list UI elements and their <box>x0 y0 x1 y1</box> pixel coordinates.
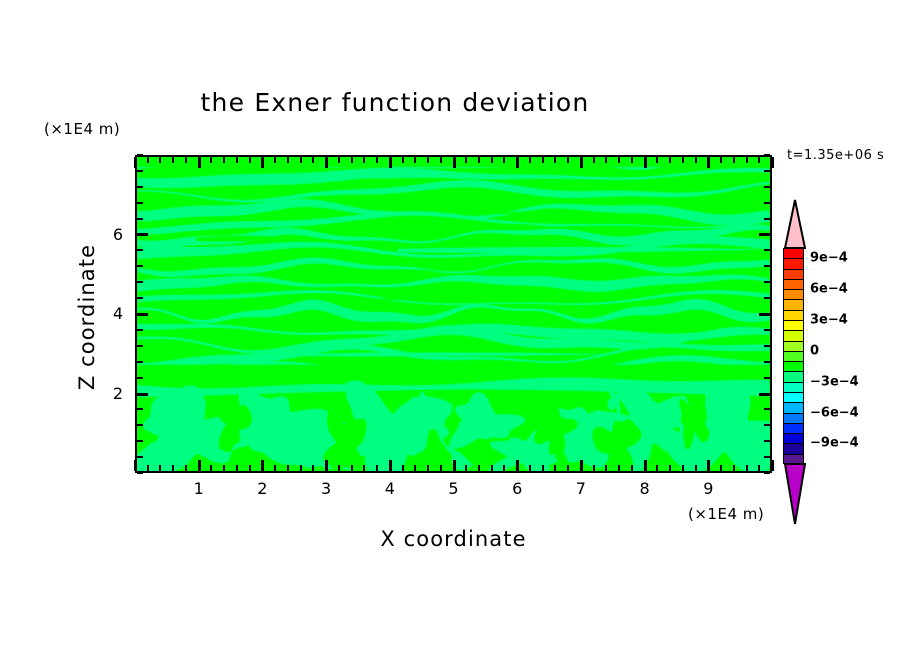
x-tick-label: 8 <box>630 479 660 498</box>
tick-mark <box>516 157 519 168</box>
tick-mark <box>764 265 770 267</box>
time-annotation: t=1.35e+06 s <box>787 148 884 163</box>
tick-mark <box>771 460 774 471</box>
tick-mark <box>720 465 722 471</box>
tick-mark <box>758 465 760 471</box>
tick-mark <box>764 154 770 156</box>
tick-mark <box>554 465 556 471</box>
tick-mark <box>137 313 148 316</box>
colorbar-tick-label: 6e−4 <box>810 282 848 297</box>
page-title: the Exner function deviation <box>0 88 790 117</box>
tick-mark <box>764 408 770 410</box>
tick-mark <box>764 472 770 474</box>
tick-mark <box>249 157 251 163</box>
tick-mark <box>300 465 302 471</box>
tick-mark <box>682 465 684 471</box>
figure-canvas: the Exner function deviation (×1E4 m) t=… <box>0 0 904 654</box>
tick-mark <box>134 460 137 471</box>
tick-mark <box>618 157 620 163</box>
colorbar-band <box>784 321 803 331</box>
colorbar-band <box>784 270 803 280</box>
tick-mark <box>223 465 225 471</box>
tick-mark <box>137 233 148 236</box>
tick-mark <box>453 157 456 168</box>
colorbar-band <box>784 300 803 310</box>
colorbar-tick-label: 0 <box>810 343 819 358</box>
colorbar-band <box>784 290 803 300</box>
tick-mark <box>185 465 187 471</box>
tick-mark <box>746 465 748 471</box>
colorbar-band <box>784 414 803 424</box>
tick-mark <box>746 157 748 163</box>
tick-mark <box>656 157 658 163</box>
tick-mark <box>764 297 770 299</box>
colorbar <box>780 198 810 526</box>
x-tick-label: 2 <box>247 479 277 498</box>
tick-mark <box>605 465 607 471</box>
tick-mark <box>759 393 770 396</box>
tick-mark <box>764 424 770 426</box>
tick-mark <box>376 465 378 471</box>
tick-mark <box>147 465 149 471</box>
tick-mark <box>137 456 143 458</box>
tick-mark <box>312 157 314 163</box>
tick-mark <box>137 249 143 251</box>
colorbar-over-arrow-icon <box>780 198 810 250</box>
colorbar-tick-label: 9e−4 <box>810 251 848 266</box>
colorbar-band <box>784 434 803 444</box>
tick-mark <box>236 157 238 163</box>
tick-mark <box>764 361 770 363</box>
tick-mark <box>707 157 710 168</box>
tick-mark <box>759 233 770 236</box>
tick-mark <box>137 154 143 156</box>
colorbar-band <box>784 372 803 382</box>
tick-mark <box>137 202 143 204</box>
colorbar-band <box>784 311 803 321</box>
y-tick-label: 2 <box>93 384 123 403</box>
tick-mark <box>287 157 289 163</box>
tick-mark <box>593 157 595 163</box>
tick-mark <box>631 157 633 163</box>
tick-mark <box>137 377 143 379</box>
tick-mark <box>605 157 607 163</box>
tick-mark <box>159 465 161 471</box>
tick-mark <box>261 157 264 168</box>
tick-mark <box>631 465 633 471</box>
tick-mark <box>656 465 658 471</box>
tick-mark <box>764 456 770 458</box>
tick-mark <box>300 157 302 163</box>
colorbar-band <box>784 249 803 259</box>
tick-mark <box>137 361 143 363</box>
colorbar-tick-label: −3e−4 <box>810 374 859 389</box>
tick-mark <box>644 157 647 168</box>
contour-plot-area <box>135 155 772 473</box>
tick-mark <box>137 440 143 442</box>
tick-mark <box>644 460 647 471</box>
tick-mark <box>733 157 735 163</box>
tick-mark <box>764 377 770 379</box>
tick-mark <box>580 157 583 168</box>
tick-mark <box>427 157 429 163</box>
tick-mark <box>771 157 774 168</box>
tick-mark <box>137 424 143 426</box>
colorbar-tick-label: −9e−4 <box>810 436 859 451</box>
tick-mark <box>465 157 467 163</box>
tick-mark <box>764 170 770 172</box>
tick-mark <box>440 465 442 471</box>
colorbar-band <box>784 393 803 403</box>
tick-mark <box>707 460 710 471</box>
colorbar-under-arrow-icon <box>780 462 810 526</box>
tick-mark <box>137 281 143 283</box>
tick-mark <box>137 265 143 267</box>
x-tick-label: 9 <box>693 479 723 498</box>
colorbar-band <box>784 280 803 290</box>
tick-mark <box>376 157 378 163</box>
tick-mark <box>593 465 595 471</box>
tick-mark <box>503 157 505 163</box>
tick-mark <box>172 157 174 163</box>
tick-mark <box>695 157 697 163</box>
tick-mark <box>669 465 671 471</box>
tick-mark <box>503 465 505 471</box>
tick-mark <box>733 465 735 471</box>
tick-mark <box>669 157 671 163</box>
colorbar-band <box>784 444 803 454</box>
tick-mark <box>414 465 416 471</box>
x-tick-label: 5 <box>439 479 469 498</box>
tick-mark <box>427 465 429 471</box>
tick-mark <box>529 157 531 163</box>
x-tick-label: 3 <box>311 479 341 498</box>
colorbar-tick-label: 3e−4 <box>810 313 848 328</box>
tick-mark <box>137 329 143 331</box>
tick-mark <box>137 393 148 396</box>
tick-mark <box>764 345 770 347</box>
tick-mark <box>580 460 583 471</box>
tick-mark <box>137 297 143 299</box>
tick-mark <box>198 157 201 168</box>
x-tick-label: 7 <box>566 479 596 498</box>
tick-mark <box>618 465 620 471</box>
tick-mark <box>363 157 365 163</box>
tick-mark <box>363 465 365 471</box>
tick-mark <box>542 157 544 163</box>
tick-mark <box>223 157 225 163</box>
colorbar-band <box>784 403 803 413</box>
tick-mark <box>351 465 353 471</box>
x-tick-label: 1 <box>184 479 214 498</box>
colorbar-band <box>784 424 803 434</box>
tick-mark <box>137 218 143 220</box>
tick-mark <box>249 465 251 471</box>
tick-mark <box>491 157 493 163</box>
x-tick-label: 4 <box>375 479 405 498</box>
tick-mark <box>720 157 722 163</box>
tick-mark <box>542 465 544 471</box>
tick-mark <box>567 157 569 163</box>
tick-mark <box>159 157 161 163</box>
tick-mark <box>389 157 392 168</box>
tick-mark <box>529 465 531 471</box>
colorbar-band <box>784 352 803 362</box>
tick-mark <box>198 460 201 471</box>
tick-mark <box>478 157 480 163</box>
tick-mark <box>185 157 187 163</box>
tick-mark <box>389 460 392 471</box>
tick-mark <box>764 202 770 204</box>
tick-mark <box>325 460 328 471</box>
colorbar-tick-label: −6e−4 <box>810 405 859 420</box>
colorbar-band <box>784 342 803 352</box>
tick-mark <box>312 465 314 471</box>
tick-mark <box>695 465 697 471</box>
tick-mark <box>137 170 143 172</box>
tick-mark <box>759 313 770 316</box>
x-axis-title: X coordinate <box>135 527 772 551</box>
tick-mark <box>414 157 416 163</box>
y-tick-label: 6 <box>93 225 123 244</box>
tick-mark <box>137 472 143 474</box>
tick-mark <box>764 440 770 442</box>
tick-mark <box>491 465 493 471</box>
tick-mark <box>338 157 340 163</box>
tick-mark <box>134 157 137 168</box>
tick-mark <box>764 249 770 251</box>
x-tick-label: 6 <box>502 479 532 498</box>
z-axis-unit-label: (×1E4 m) <box>44 120 120 138</box>
y-tick-label: 4 <box>93 304 123 323</box>
tick-mark <box>465 465 467 471</box>
tick-mark <box>402 465 404 471</box>
tick-mark <box>764 329 770 331</box>
tick-mark <box>274 157 276 163</box>
tick-mark <box>137 408 143 410</box>
tick-mark <box>325 157 328 168</box>
tick-mark <box>440 157 442 163</box>
tick-mark <box>172 465 174 471</box>
tick-mark <box>210 157 212 163</box>
colorbar-band <box>784 331 803 341</box>
tick-mark <box>453 460 456 471</box>
tick-mark <box>236 465 238 471</box>
colorbar-band <box>784 383 803 393</box>
contour-field <box>137 157 770 471</box>
tick-mark <box>338 465 340 471</box>
tick-mark <box>682 157 684 163</box>
tick-mark <box>764 281 770 283</box>
colorbar-band <box>784 259 803 269</box>
tick-mark <box>402 157 404 163</box>
tick-mark <box>287 465 289 471</box>
x-axis-unit-label: (×1E4 m) <box>688 505 764 523</box>
tick-mark <box>274 465 276 471</box>
tick-mark <box>137 186 143 188</box>
tick-mark <box>210 465 212 471</box>
colorbar-band <box>784 362 803 372</box>
tick-mark <box>351 157 353 163</box>
tick-mark <box>764 186 770 188</box>
tick-mark <box>137 345 143 347</box>
tick-mark <box>567 465 569 471</box>
tick-mark <box>758 157 760 163</box>
tick-mark <box>261 460 264 471</box>
tick-mark <box>478 465 480 471</box>
tick-mark <box>516 460 519 471</box>
tick-mark <box>147 157 149 163</box>
tick-mark <box>764 218 770 220</box>
colorbar-bands <box>783 248 804 464</box>
tick-mark <box>554 157 556 163</box>
